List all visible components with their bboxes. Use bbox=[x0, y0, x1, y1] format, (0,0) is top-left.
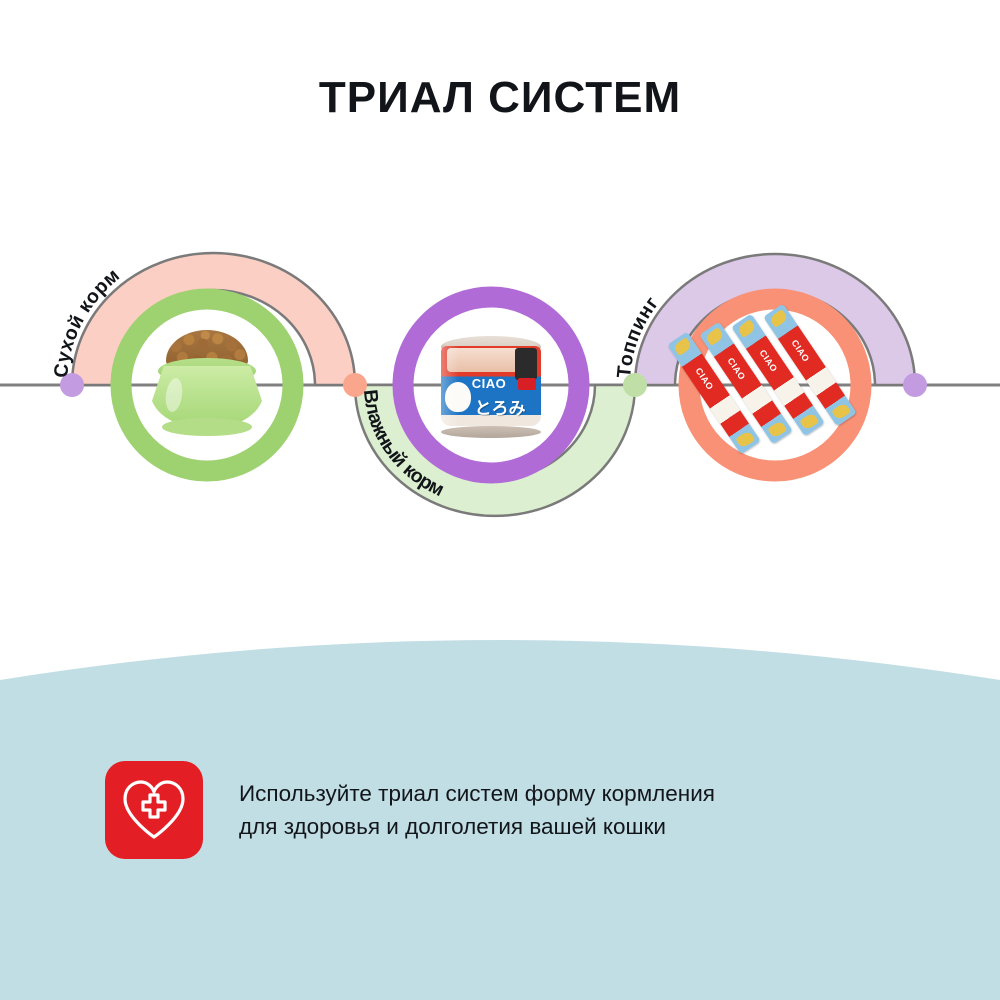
stick-brand-text: CIAO bbox=[754, 342, 784, 379]
can-label: CIAO とろみ bbox=[441, 346, 541, 426]
stick-brand-text: CIAO bbox=[722, 350, 752, 387]
fish-icon bbox=[705, 327, 725, 346]
can-brand-text: CIAO bbox=[463, 376, 515, 392]
product-ciao-can: CIAO とろみ bbox=[441, 336, 541, 434]
fish-icon bbox=[735, 430, 755, 449]
bowl-base bbox=[162, 418, 252, 436]
fish-icon bbox=[737, 319, 757, 338]
can-base bbox=[441, 426, 541, 438]
fish-icon bbox=[799, 412, 819, 431]
footer-message-row: Используйте триал систем форму кормления… bbox=[105, 755, 905, 865]
fish-icon bbox=[769, 309, 789, 328]
node-dot-end bbox=[903, 373, 927, 397]
can-food-photo bbox=[447, 348, 521, 372]
can-origin-badge bbox=[518, 378, 536, 390]
infographic-canvas: ТРИАЛ СИСТЕМ bbox=[0, 0, 1000, 1000]
stick-brand-text: CIAO bbox=[786, 332, 816, 369]
heart-cross-badge bbox=[105, 761, 203, 859]
product-dry-food-bowl bbox=[144, 330, 270, 440]
fish-icon bbox=[831, 402, 851, 421]
product-ciao-sticks: CIAO CIAO CIAO CIAO bbox=[700, 305, 854, 469]
fish-icon bbox=[767, 420, 787, 439]
can-japanese-text: とろみ bbox=[465, 396, 535, 422]
fish-icon bbox=[673, 337, 693, 356]
footer-message: Используйте триал систем форму кормления… bbox=[239, 777, 715, 843]
can-dark-panel bbox=[515, 348, 537, 380]
heart-cross-icon bbox=[121, 779, 187, 841]
